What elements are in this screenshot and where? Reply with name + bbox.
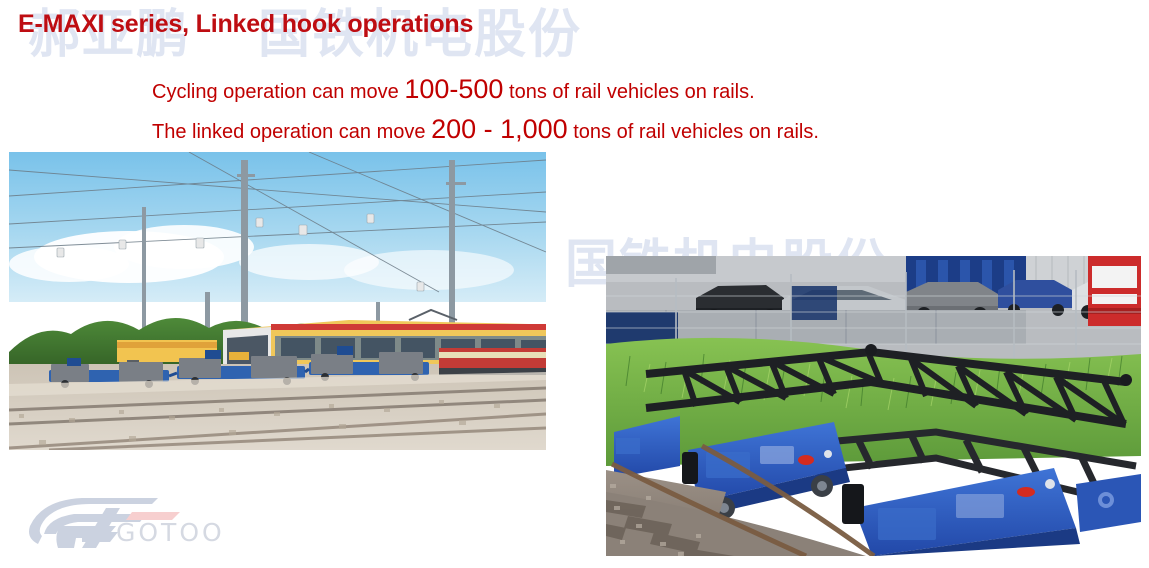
body-line-1: Cycling operation can move 100-500 tons … (152, 74, 755, 105)
photo-right-illustration (606, 256, 1141, 556)
photo-linked-hook-rail-vehicles (606, 256, 1141, 556)
body-line-2-pre: The linked operation can move (152, 121, 431, 143)
gotoo-logo: GOTOO (20, 492, 205, 554)
body-line-1-post: tons of rail vehicles on rails. (503, 81, 754, 103)
body-line-2-number: 200 - 1,000 (431, 114, 568, 144)
body-line-1-pre: Cycling operation can move (152, 81, 404, 103)
body-line-1-number: 100-500 (404, 74, 503, 104)
photo-tram-and-shunting-vehicles (9, 152, 546, 450)
slide-canvas: 郝亚鹏 国铁机电股份 郝亚鹏 国铁机电股份 E-MAXI series, Lin… (0, 0, 1149, 568)
slide-title: E-MAXI series, Linked hook operations (18, 10, 473, 39)
photo-left-illustration (9, 152, 546, 450)
body-line-2: The linked operation can move 200 - 1,00… (152, 114, 819, 145)
body-line-2-post: tons of rail vehicles on rails. (568, 121, 819, 143)
gotoo-wordmark: GOTOO (116, 518, 225, 547)
